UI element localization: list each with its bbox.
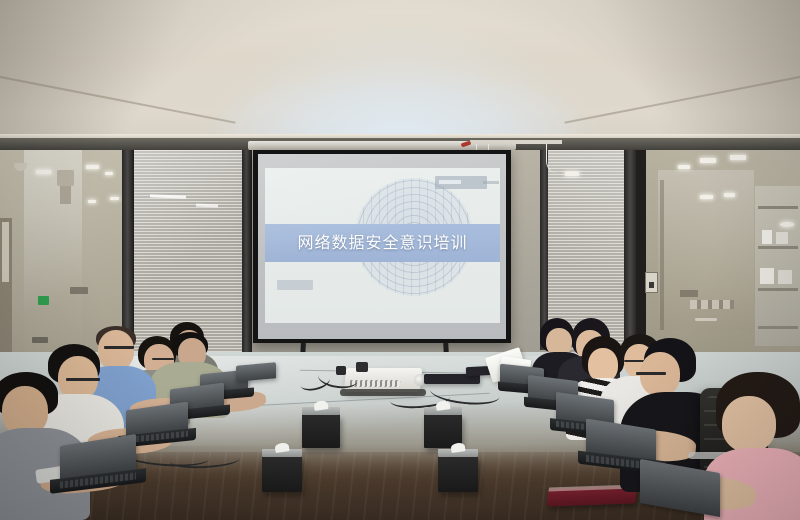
downlight-icon	[730, 155, 746, 160]
shelf-box	[778, 270, 792, 284]
door-handle-right[interactable]	[695, 318, 717, 321]
ceiling-shadow-right	[540, 0, 800, 150]
screen-glare	[258, 154, 506, 339]
downlight-icon	[86, 165, 99, 169]
door-glass-left	[2, 222, 9, 282]
door-frame-right	[636, 150, 646, 365]
shelf-line	[758, 246, 798, 249]
ceiling-projector-mount	[57, 170, 74, 186]
photo-scene: 网络数据安全意识培训	[0, 0, 800, 520]
downlight-icon	[724, 193, 735, 197]
downlight-icon	[110, 197, 119, 200]
downlight-icon	[565, 172, 579, 176]
downlight-icon	[36, 170, 51, 174]
wall-switch-panel[interactable]	[690, 300, 734, 309]
tissue-box	[438, 456, 478, 492]
ceiling-shadow-left	[0, 0, 240, 150]
wall-marking	[680, 290, 698, 297]
downlight-icon	[88, 200, 96, 203]
tissue-box	[302, 414, 340, 448]
shelf-line	[758, 206, 798, 209]
downlight-icon	[700, 195, 713, 199]
shelf-box	[776, 232, 788, 244]
power-adapter	[356, 362, 368, 372]
wall-marking	[70, 287, 88, 294]
shelf-box	[762, 230, 772, 244]
cable-connector	[336, 366, 346, 375]
downlight-icon	[700, 158, 716, 163]
shelf-line	[758, 288, 798, 291]
office-beyond-right	[755, 186, 800, 346]
ceiling-projector-body	[60, 186, 71, 204]
tissue-box	[262, 456, 302, 492]
shelf-line	[758, 326, 798, 329]
downlight-icon	[105, 172, 113, 175]
downlight-icon	[780, 222, 794, 227]
door-lock-plate	[32, 337, 48, 343]
exit-sign	[38, 296, 49, 305]
shelf-box	[760, 268, 774, 284]
downlight-icon	[678, 165, 690, 169]
access-card-reader	[645, 272, 658, 293]
window-mullion-center-left	[242, 150, 252, 355]
door-panel-edge-right	[660, 180, 664, 330]
ceiling-glow	[210, 20, 590, 150]
